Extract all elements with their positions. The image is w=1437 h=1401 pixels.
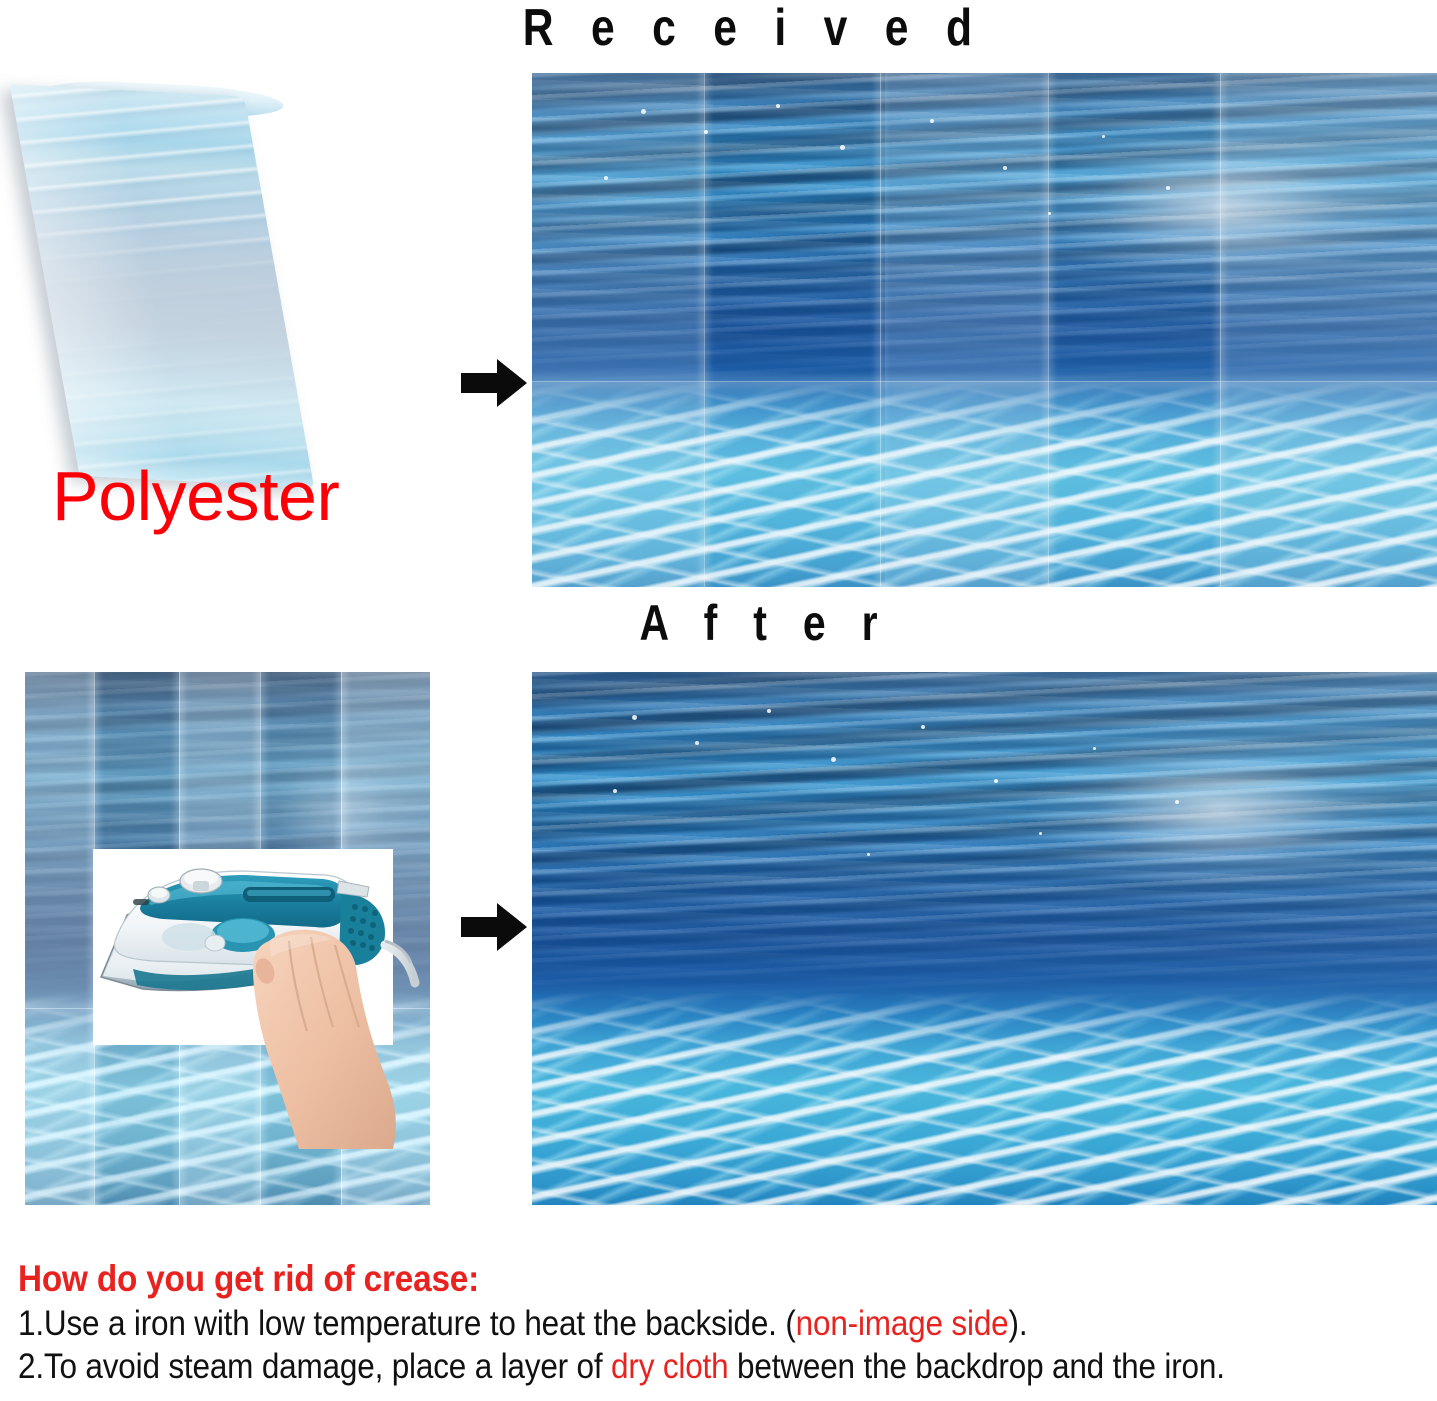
creased-fabric-image <box>25 672 430 1205</box>
instruction-line-2: 2.To avoid steam damage, place a layer o… <box>18 1346 1287 1389</box>
bubbles <box>532 73 1437 587</box>
after-photo <box>532 672 1437 1205</box>
instruction-2-highlight: dry cloth <box>611 1347 728 1386</box>
received-title: R e c e i v e d <box>523 2 985 54</box>
right-arrow-icon <box>461 900 527 954</box>
polyester-label: Polyester <box>52 461 339 531</box>
steam-iron-photo <box>93 849 393 1045</box>
instruction-1-highlight: non-image side <box>796 1304 1009 1343</box>
instruction-1-suffix: ). <box>1009 1304 1028 1343</box>
instructions-block: How do you get rid of crease: 1.Use a ir… <box>18 1258 1428 1389</box>
instructions-heading: How do you get rid of crease: <box>18 1258 1287 1299</box>
instruction-2-suffix: between the backdrop and the iron. <box>728 1347 1224 1386</box>
instruction-2-prefix: 2.To avoid steam damage, place a layer o… <box>18 1347 611 1386</box>
after-title: A f t e r <box>639 598 889 648</box>
instruction-line-1: 1.Use a iron with low temperature to hea… <box>18 1303 1287 1346</box>
instruction-1-prefix: 1.Use a iron with low temperature to hea… <box>18 1304 796 1343</box>
folded-fabric-image <box>18 80 408 490</box>
right-arrow-icon <box>461 356 527 410</box>
fabric-sheet <box>10 84 314 488</box>
received-photo <box>532 73 1437 587</box>
bubbles <box>532 672 1437 1205</box>
